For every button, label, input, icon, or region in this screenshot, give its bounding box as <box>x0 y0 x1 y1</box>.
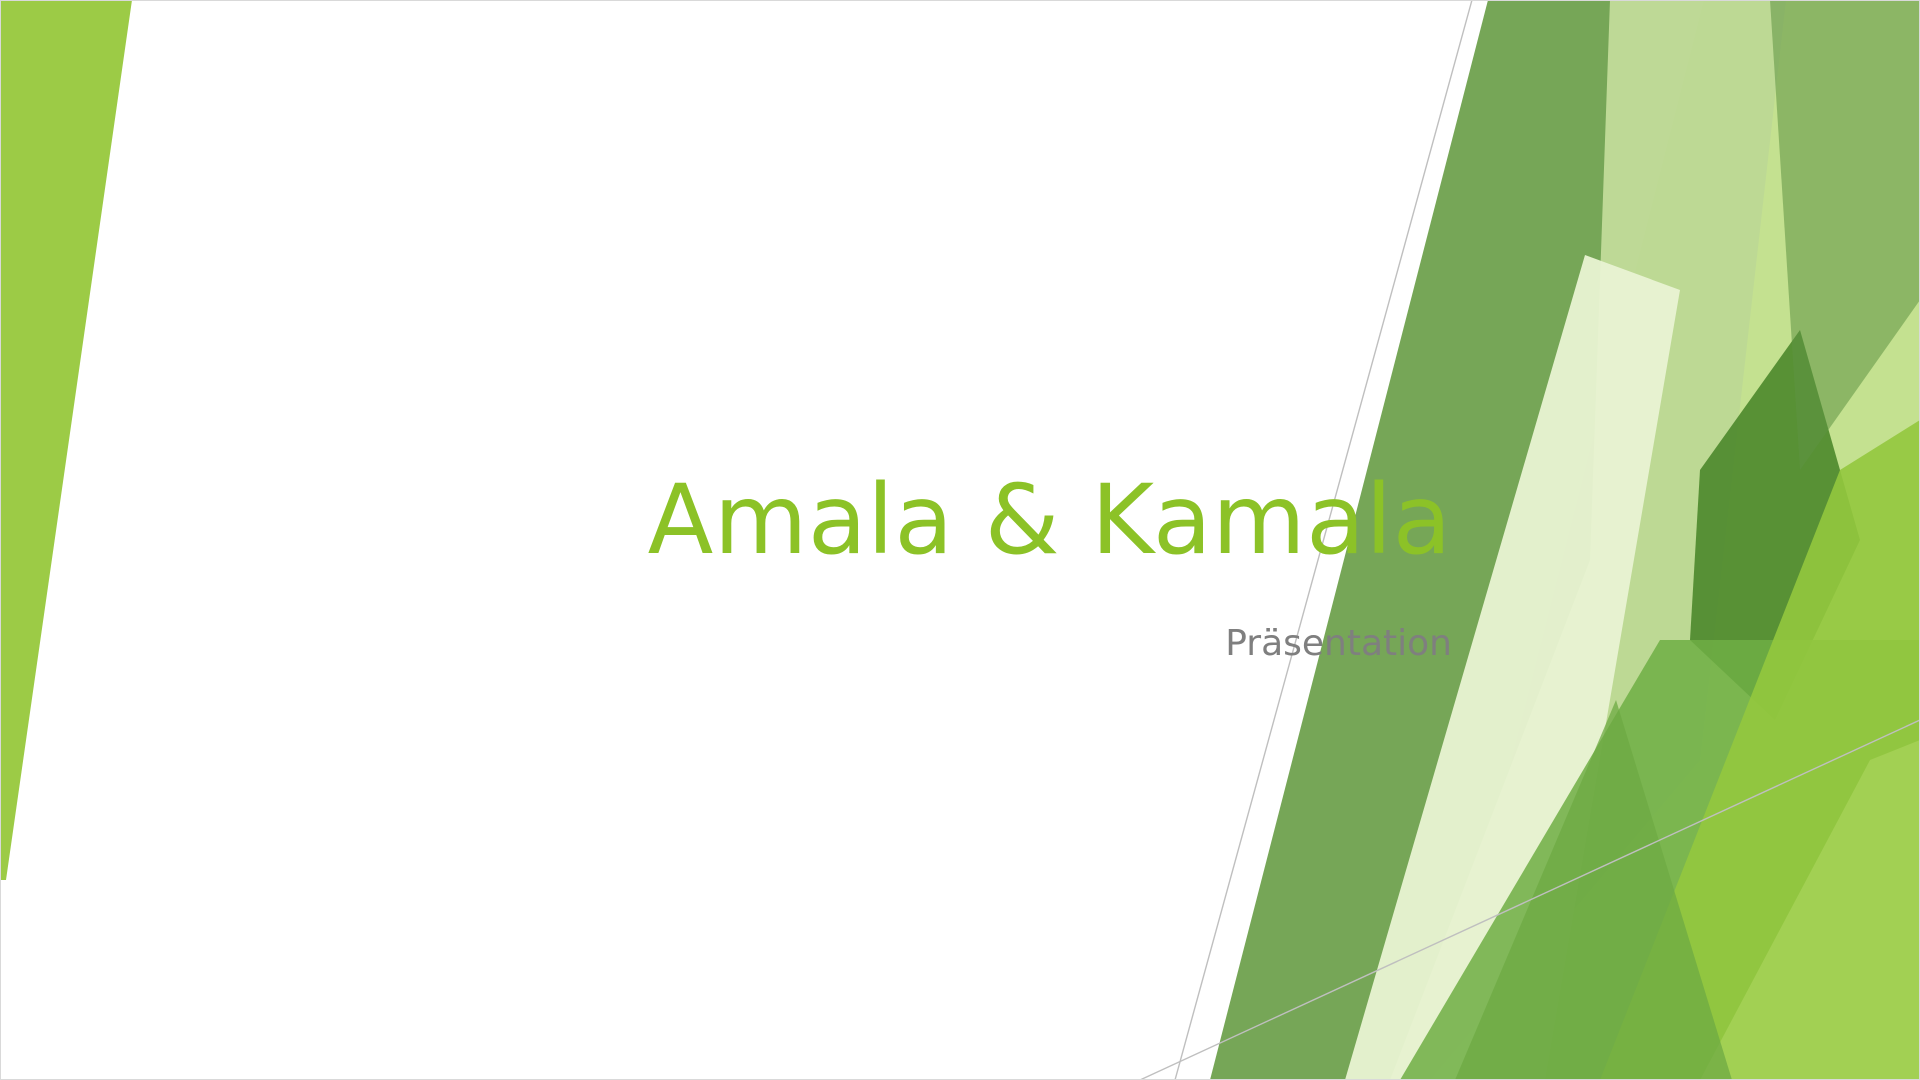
presentation-slide: Amala & Kamala Präsentation <box>0 0 1920 1080</box>
pale-green-wedge <box>1390 0 1920 1080</box>
bright-green-bottom-wedge <box>1600 420 1920 1080</box>
slide-subtitle[interactable]: Präsentation <box>360 572 1452 665</box>
slide-title[interactable]: Amala & Kamala <box>360 470 1452 572</box>
dark-green-right-facet <box>1770 0 1920 470</box>
medium-dark-inner-facet <box>1455 700 1732 1080</box>
dark-green-overlap-facet <box>1690 330 1860 720</box>
mid-green-lower-facet <box>1400 640 1920 1080</box>
title-text-block: Amala & Kamala Präsentation <box>360 470 1452 665</box>
very-pale-green-sliver <box>1345 255 1680 1080</box>
light-green-bottom-facet <box>1700 740 1920 1080</box>
secondary-diagonal-hairline <box>1140 720 1920 1080</box>
right-bright-green-panel <box>1430 0 1920 1080</box>
left-green-wedge <box>0 0 132 880</box>
